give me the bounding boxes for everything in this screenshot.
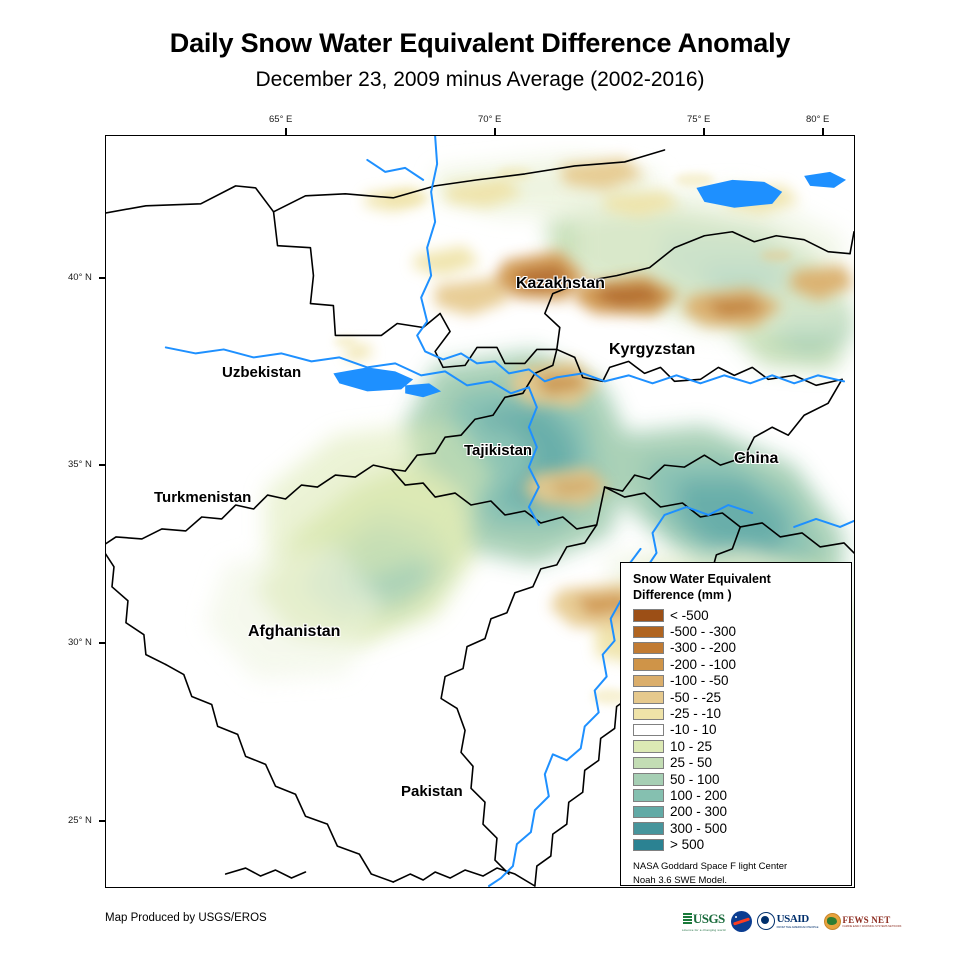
- lat-label-2: 30° N: [68, 637, 92, 648]
- fews-globe-icon: [824, 913, 841, 930]
- legend-swatch: [633, 691, 664, 704]
- lon-tick-3: [822, 128, 824, 135]
- lon-label-1: 70° E: [478, 114, 501, 125]
- legend-label: > 500: [670, 838, 704, 852]
- country-label-afghanistan: Afghanistan: [248, 623, 340, 641]
- country-label-uzbekistan: Uzbekistan: [222, 364, 301, 381]
- legend-swatch: [633, 789, 664, 802]
- legend-swatch: [633, 839, 664, 852]
- usaid-logo[interactable]: USAID FROM THE AMERICAN PEOPLE: [757, 910, 819, 932]
- nasa-meatball-icon: [731, 911, 752, 932]
- legend-label: -100 - -50: [670, 674, 729, 688]
- legend-title-line1: Snow Water Equivalent: [633, 572, 841, 588]
- legend-swatch: [633, 658, 664, 671]
- page-subtitle: December 23, 2009 minus Average (2002-20…: [0, 68, 960, 92]
- legend-label: 50 - 100: [670, 773, 720, 787]
- legend-swatch: [633, 806, 664, 819]
- usgs-wordmark: USGS: [693, 911, 725, 927]
- legend-swatch: [633, 642, 664, 655]
- country-label-turkmenistan: Turkmenistan: [154, 489, 251, 506]
- nasa-star-icon: [735, 916, 737, 918]
- legend-row[interactable]: -300 - -200: [633, 640, 841, 656]
- legend-swatch: [633, 626, 664, 639]
- legend-class-list: < -500-500 - -300-300 - -200-200 - -100-…: [633, 607, 841, 853]
- legend-label: -50 - -25: [670, 691, 721, 705]
- legend-label: 200 - 300: [670, 805, 727, 819]
- usaid-wordmark: USAID: [777, 913, 819, 925]
- legend-row[interactable]: -100 - -50: [633, 673, 841, 689]
- legend-source-line2: Noah 3.6 SWE Model.: [633, 874, 841, 888]
- legend-label: 100 - 200: [670, 789, 727, 803]
- legend-row[interactable]: 25 - 50: [633, 755, 841, 771]
- legend-row[interactable]: < -500: [633, 607, 841, 623]
- lon-label-0: 65° E: [269, 114, 292, 125]
- legend-panel[interactable]: Snow Water Equivalent Difference (mm ) <…: [620, 562, 852, 886]
- lon-label-3: 80° E: [806, 114, 829, 125]
- legend-label: -25 - -10: [670, 707, 721, 721]
- legend-label: -300 - -200: [670, 641, 736, 655]
- lon-tick-0: [285, 128, 287, 135]
- legend-label: -10 - 10: [670, 723, 717, 737]
- usgs-tagline: science for a changing world: [682, 928, 726, 932]
- legend-row[interactable]: 100 - 200: [633, 788, 841, 804]
- country-label-pakistan: Pakistan: [401, 783, 463, 800]
- legend-label: < -500: [670, 609, 709, 623]
- country-label-china: China: [734, 450, 778, 468]
- map-page: Daily Snow Water Equivalent Difference A…: [0, 0, 960, 960]
- usgs-logo[interactable]: USGS science for a changing world: [682, 910, 726, 932]
- usgs-mark-icon: [683, 913, 692, 924]
- legend-swatch: [633, 609, 664, 622]
- legend-label: 10 - 25: [670, 740, 712, 754]
- legend-label: -200 - -100: [670, 658, 736, 672]
- legend-title-line2: Difference (mm ): [633, 588, 841, 604]
- country-label-kazakhstan: Kazakhstan: [516, 275, 605, 293]
- legend-row[interactable]: 10 - 25: [633, 738, 841, 754]
- lon-tick-1: [494, 128, 496, 135]
- page-title: Daily Snow Water Equivalent Difference A…: [0, 28, 960, 59]
- legend-label: 25 - 50: [670, 756, 712, 770]
- lat-label-1: 35° N: [68, 459, 92, 470]
- legend-swatch: [633, 724, 664, 737]
- legend-row[interactable]: -25 - -10: [633, 706, 841, 722]
- legend-swatch: [633, 757, 664, 770]
- legend-row[interactable]: -500 - -300: [633, 624, 841, 640]
- map-credit: Map Produced by USGS/EROS: [105, 912, 267, 924]
- legend-swatch: [633, 740, 664, 753]
- fews-wordmark: FEWS NET: [843, 915, 902, 925]
- country-label-kyrgyzstan: Kyrgyzstan: [609, 341, 695, 359]
- lon-label-2: 75° E: [687, 114, 710, 125]
- legend-row[interactable]: 200 - 300: [633, 804, 841, 820]
- agency-logos: USGS science for a changing world USAID …: [682, 910, 901, 932]
- nasa-logo[interactable]: [731, 910, 752, 932]
- legend-row[interactable]: 300 - 500: [633, 820, 841, 836]
- fews-net-logo[interactable]: FEWS NET FAMINE EARLY WARNING SYSTEMS NE…: [824, 910, 902, 932]
- legend-swatch: [633, 822, 664, 835]
- legend-title: Snow Water Equivalent Difference (mm ): [633, 572, 841, 603]
- usaid-seal-icon: [757, 912, 775, 930]
- lat-label-3: 25° N: [68, 815, 92, 826]
- legend-row[interactable]: 50 - 100: [633, 771, 841, 787]
- legend-swatch: [633, 675, 664, 688]
- lat-label-0: 40° N: [68, 272, 92, 283]
- legend-label: -500 - -300: [670, 625, 736, 639]
- legend-source-line1: NASA Goddard Space F light Center: [633, 860, 841, 874]
- fews-tagline: FAMINE EARLY WARNING SYSTEMS NETWORK: [843, 925, 902, 928]
- legend-swatch: [633, 708, 664, 721]
- country-label-tajikistan: Tajikistan: [464, 442, 532, 459]
- legend-row[interactable]: -50 - -25: [633, 689, 841, 705]
- legend-label: 300 - 500: [670, 822, 727, 836]
- lon-tick-2: [703, 128, 705, 135]
- legend-row[interactable]: -200 - -100: [633, 656, 841, 672]
- legend-source: NASA Goddard Space F light Center Noah 3…: [633, 860, 841, 888]
- usaid-tagline: FROM THE AMERICAN PEOPLE: [777, 925, 819, 929]
- legend-row[interactable]: > 500: [633, 837, 841, 853]
- legend-row[interactable]: -10 - 10: [633, 722, 841, 738]
- legend-swatch: [633, 773, 664, 786]
